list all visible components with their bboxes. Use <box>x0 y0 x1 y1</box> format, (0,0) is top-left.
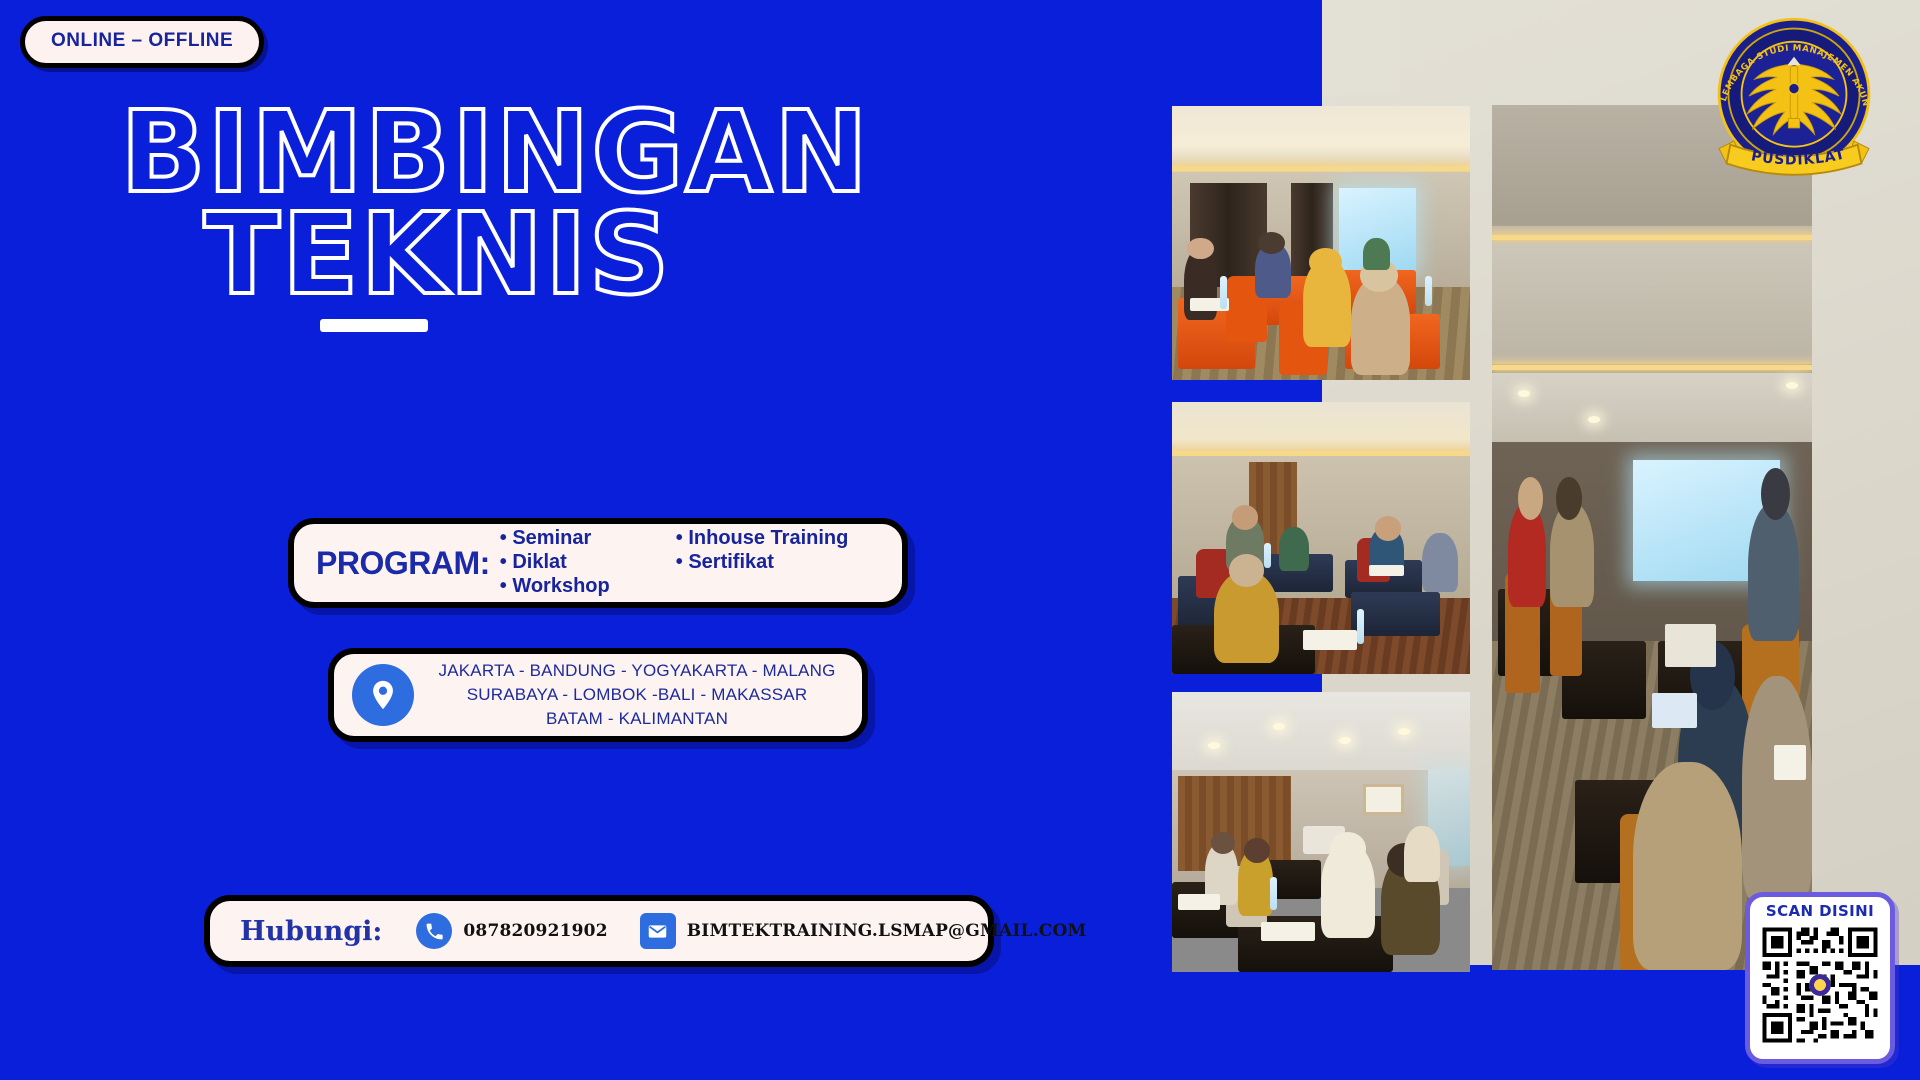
location-line: BATAM - KALIMANTAN <box>428 707 846 731</box>
poster-headline: BIMBINGAN TEKNIS <box>0 100 1000 332</box>
contact-phone[interactable]: 087820921902 <box>416 913 607 949</box>
email-address: BIMTEKTRAINING.LSMAP@GMAIL.COM <box>687 921 1087 941</box>
qr-center-logo <box>1809 974 1831 996</box>
program-card: PROGRAM: Seminar Diklat Workshop Inhouse… <box>288 518 908 608</box>
program-columns: Seminar Diklat Workshop Inhouse Training… <box>500 527 896 598</box>
program-column-a: Seminar Diklat Workshop <box>500 527 660 598</box>
program-item: Workshop <box>500 575 660 599</box>
location-line: SURABAYA - LOMBOK -BALI - MAKASSAR <box>428 683 846 707</box>
program-item: Diklat <box>500 551 660 575</box>
photo-meeting-wood-room <box>1172 692 1470 972</box>
location-line: JAKARTA - BANDUNG - YOGYAKARTA - MALANG <box>428 659 846 683</box>
photo-seminar-orange-room <box>1172 106 1470 380</box>
program-item: Seminar <box>500 527 660 551</box>
online-offline-label: ONLINE – OFFLINE <box>51 30 233 51</box>
envelope-icon <box>640 913 676 949</box>
phone-icon <box>416 913 452 949</box>
qr-scan-card[interactable]: SCAN DISINI <box>1745 892 1895 1064</box>
background-cream-top-strip <box>1322 0 1400 95</box>
poster-canvas: ONLINE – OFFLINE BIMBINGAN TEKNIS PROGRA… <box>0 0 1920 1080</box>
qr-code-icon[interactable] <box>1758 923 1882 1047</box>
location-lines: JAKARTA - BANDUNG - YOGYAKARTA - MALANG … <box>428 659 846 731</box>
headline-underline <box>320 319 428 332</box>
location-card: JAKARTA - BANDUNG - YOGYAKARTA - MALANG … <box>328 648 868 742</box>
background-blue-bottom-band <box>0 965 1920 1080</box>
organization-logo: LEMBAGA STUDI MANAJEMEN AKUNTANSI DAN PE… <box>1700 8 1888 186</box>
phone-number: 087820921902 <box>463 921 607 941</box>
contact-email[interactable]: BIMTEKTRAINING.LSMAP@GMAIL.COM <box>640 913 1087 949</box>
online-offline-badge: ONLINE – OFFLINE <box>20 16 264 68</box>
program-item: Sertifikat <box>676 551 896 575</box>
contact-card: Hubungi: 087820921902 BIMTEKTRAINING.LSM… <box>204 895 994 967</box>
photo-classroom-navy-tables <box>1172 402 1470 674</box>
program-label: PROGRAM: <box>316 545 490 582</box>
scan-label: SCAN DISINI <box>1758 903 1882 920</box>
map-pin-icon <box>352 664 414 726</box>
contact-label: Hubungi: <box>240 916 382 947</box>
program-item: Inhouse Training <box>676 527 896 551</box>
program-column-b: Inhouse Training Sertifikat <box>676 527 896 598</box>
photo-main-seminar-hall <box>1492 105 1812 970</box>
